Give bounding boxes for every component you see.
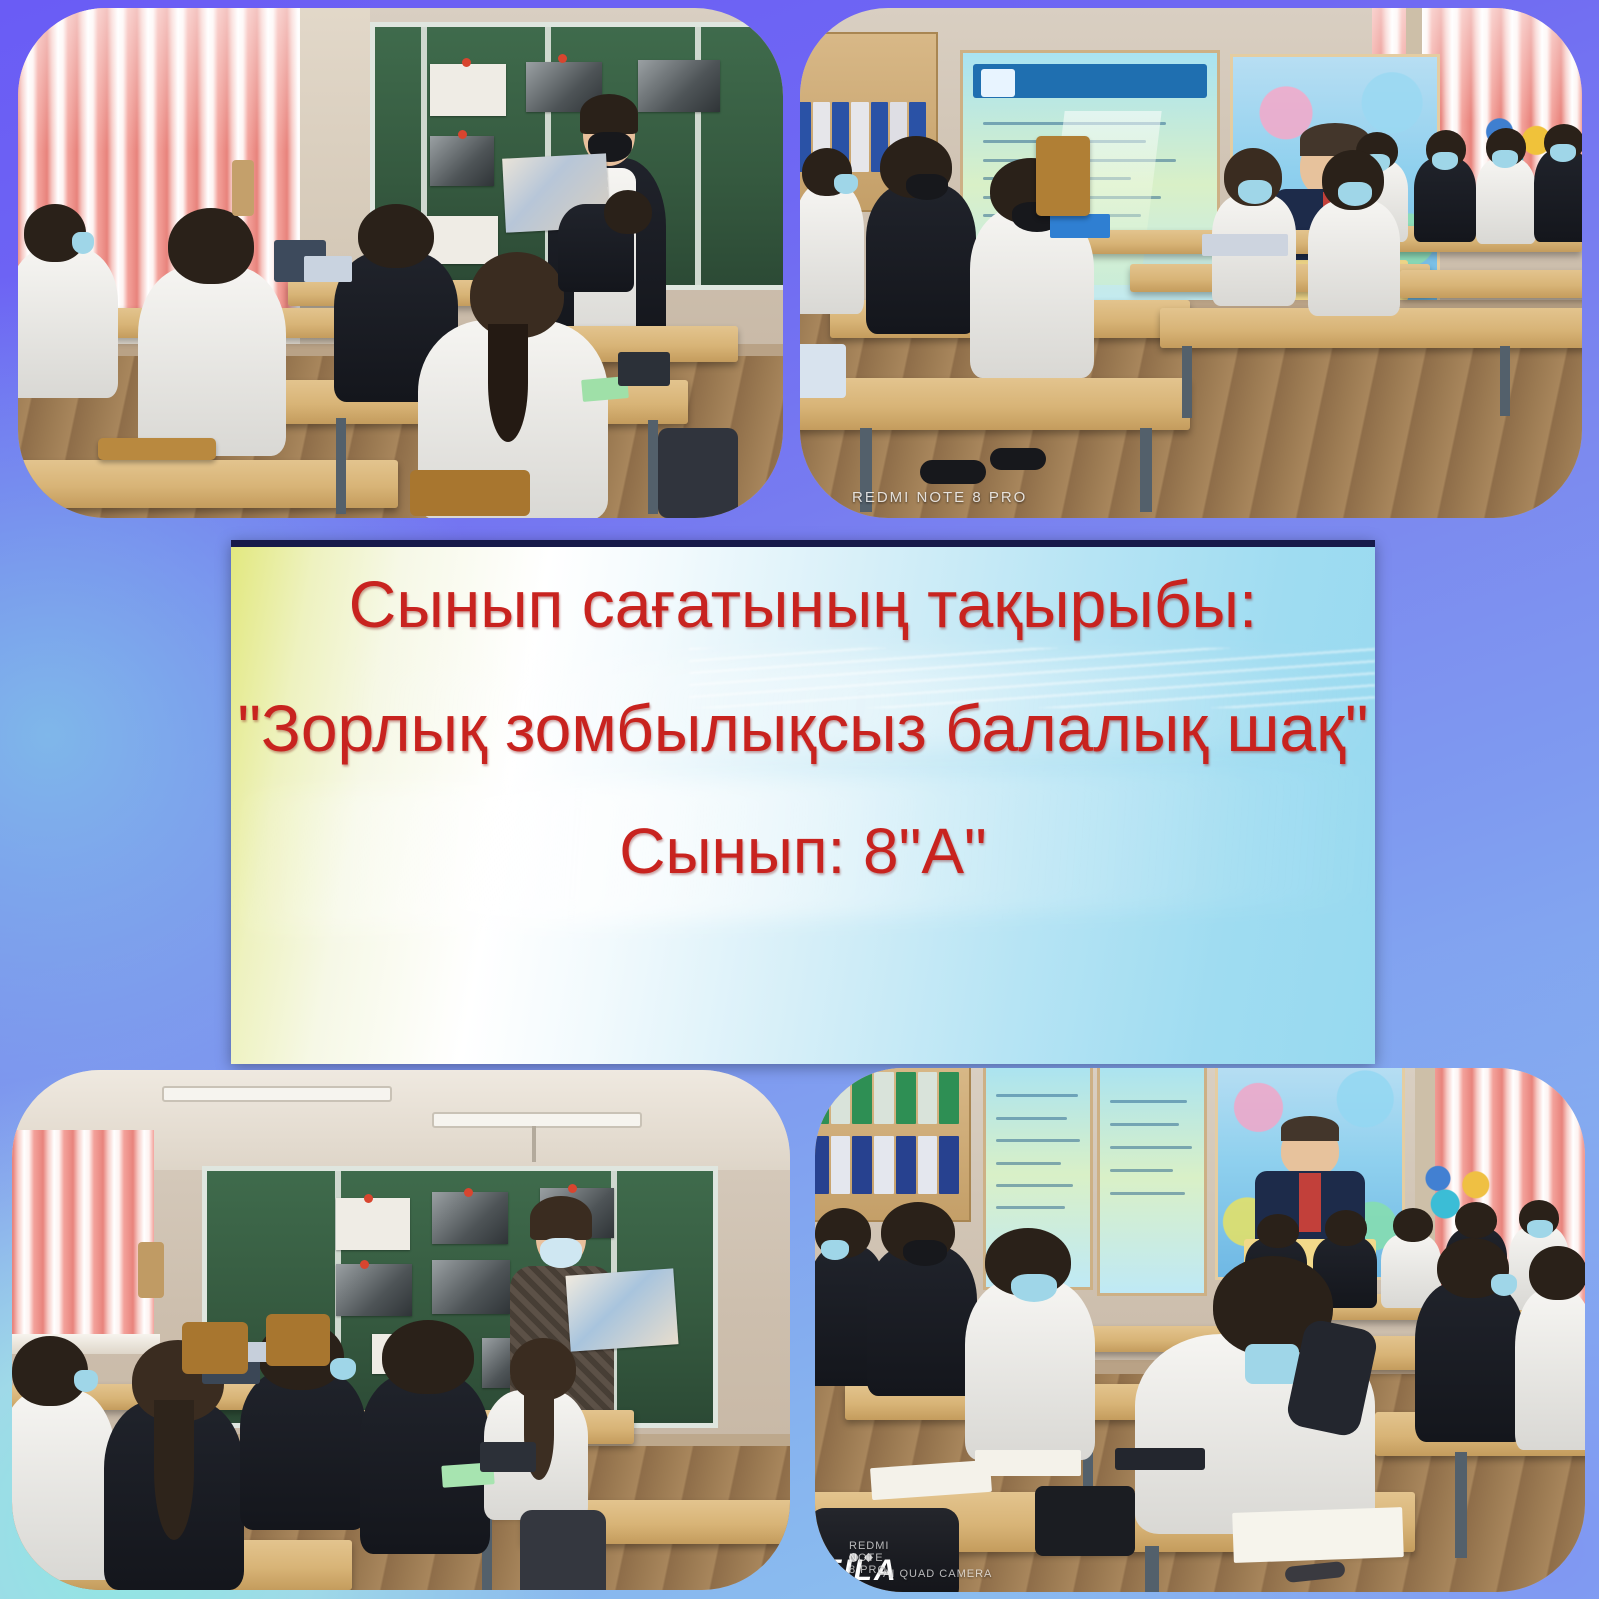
student-head <box>382 1320 474 1394</box>
photo-collage: REDMI NOTE 8 PRO Сынып сағатының тақырыб… <box>0 0 1599 1599</box>
photo-top-left <box>18 8 783 518</box>
student-head <box>1325 1210 1367 1246</box>
photo-bottom-right: FILA REDMI NOTE 8 PRO AI QUAD CAMERA <box>815 1068 1585 1592</box>
photo-bottom-left <box>12 1070 790 1590</box>
student-head <box>1486 128 1526 166</box>
student-head <box>604 190 652 234</box>
chair <box>410 470 530 516</box>
student-head <box>1213 1256 1333 1356</box>
student-head <box>1437 1238 1509 1298</box>
student-head <box>880 136 952 198</box>
photo-top-right: REDMI NOTE 8 PRO <box>800 8 1582 518</box>
seated-student <box>965 1280 1095 1460</box>
seated-student <box>104 1400 244 1590</box>
board-poster <box>430 64 506 116</box>
camera-watermark: REDMI NOTE 8 PRO <box>852 489 1027 506</box>
student-head <box>881 1202 955 1262</box>
slide-title-line-2: "Зорлық зомбылықсыз балалық шақ" <box>231 690 1375 766</box>
student-head <box>1322 150 1384 210</box>
seated-student <box>1212 194 1296 306</box>
student-head <box>1455 1202 1497 1238</box>
student-head <box>985 1228 1071 1296</box>
board-photo <box>430 136 494 186</box>
camera-watermark: REDMI NOTE 8 PRO <box>849 1553 873 1562</box>
student-head <box>1224 148 1282 206</box>
board-photo <box>432 1192 508 1244</box>
student-head <box>358 204 434 268</box>
info-stand <box>1097 1068 1207 1296</box>
student-desk <box>1400 270 1582 298</box>
binder-row <box>815 1072 959 1124</box>
student-head <box>1426 130 1466 168</box>
board-poster <box>336 1198 410 1250</box>
board-photo <box>432 1260 510 1314</box>
student-head <box>1529 1246 1585 1300</box>
student-head <box>510 1338 576 1400</box>
seated-student <box>800 184 864 314</box>
student-head <box>1544 124 1582 160</box>
seated-student <box>1135 1334 1375 1534</box>
chair <box>266 1314 330 1366</box>
slide-title-line-1: Сынып сағатының тақырыбы: <box>231 566 1375 642</box>
student-head <box>815 1208 871 1258</box>
seated-student <box>970 208 1094 378</box>
seated-student <box>18 248 118 398</box>
slide-class-line: Сынып: 8"А" <box>231 814 1375 888</box>
seated-student <box>240 1370 366 1530</box>
student-desk <box>800 378 1190 430</box>
student-head <box>802 148 852 196</box>
board-photo <box>336 1264 412 1316</box>
student-desk <box>18 460 398 508</box>
chair <box>98 438 216 460</box>
seated-student <box>1415 1282 1525 1442</box>
seated-student <box>1534 150 1582 242</box>
student-head <box>12 1336 88 1406</box>
window-blinds <box>12 1130 154 1340</box>
presentation-slide: Сынып сағатының тақырыбы: "Зорлық зомбыл… <box>231 540 1375 1064</box>
chair <box>1036 136 1090 216</box>
student-head <box>470 252 564 338</box>
student-head <box>24 204 86 262</box>
board-photo <box>638 60 720 112</box>
seated-student <box>1414 158 1476 242</box>
binder-row <box>815 1136 959 1194</box>
seated-student <box>866 184 976 334</box>
seated-student <box>12 1390 116 1580</box>
seated-student <box>360 1374 490 1554</box>
student-head <box>168 208 254 284</box>
student-head <box>1257 1214 1299 1248</box>
seated-student <box>1308 200 1400 316</box>
camera-watermark-mode: AI QUAD CAMERA <box>883 1568 992 1580</box>
portrait-poster <box>1215 1068 1405 1280</box>
seated-student <box>867 1246 977 1396</box>
chair <box>182 1322 248 1374</box>
board-photo <box>540 1188 614 1238</box>
seated-student <box>1515 1290 1585 1450</box>
student-head <box>1519 1200 1559 1236</box>
student-head <box>1393 1208 1433 1242</box>
board-photo <box>526 62 602 112</box>
board-poster <box>426 216 498 264</box>
seated-student <box>138 266 286 456</box>
seated-student <box>484 1390 588 1520</box>
seated-student <box>1476 158 1536 244</box>
